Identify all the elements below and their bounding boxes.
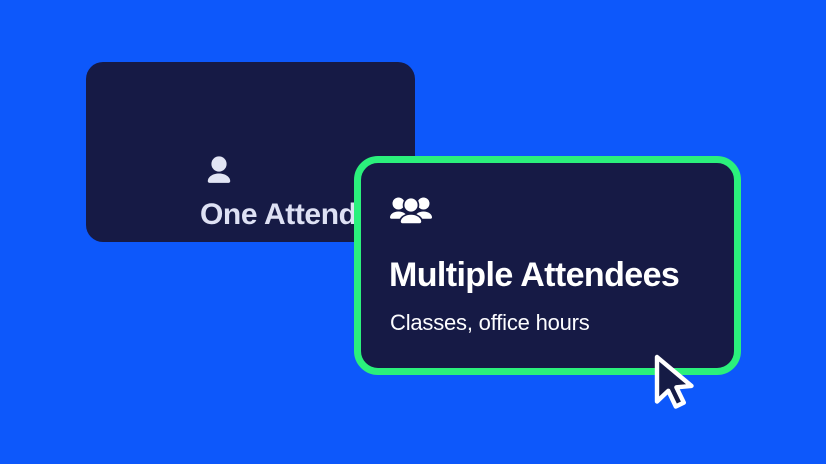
- single-person-icon: [201, 153, 237, 194]
- card-multiple-attendees[interactable]: Multiple Attendees Classes, office hours: [354, 156, 741, 375]
- card-multiple-attendees-title: Multiple Attendees: [389, 256, 679, 295]
- selection-cards-canvas: One Attendee Interviews, 1-1s, check-in …: [0, 0, 826, 464]
- card-multiple-attendees-subtitle: Classes, office hours: [390, 310, 590, 336]
- group-people-icon: [390, 194, 432, 237]
